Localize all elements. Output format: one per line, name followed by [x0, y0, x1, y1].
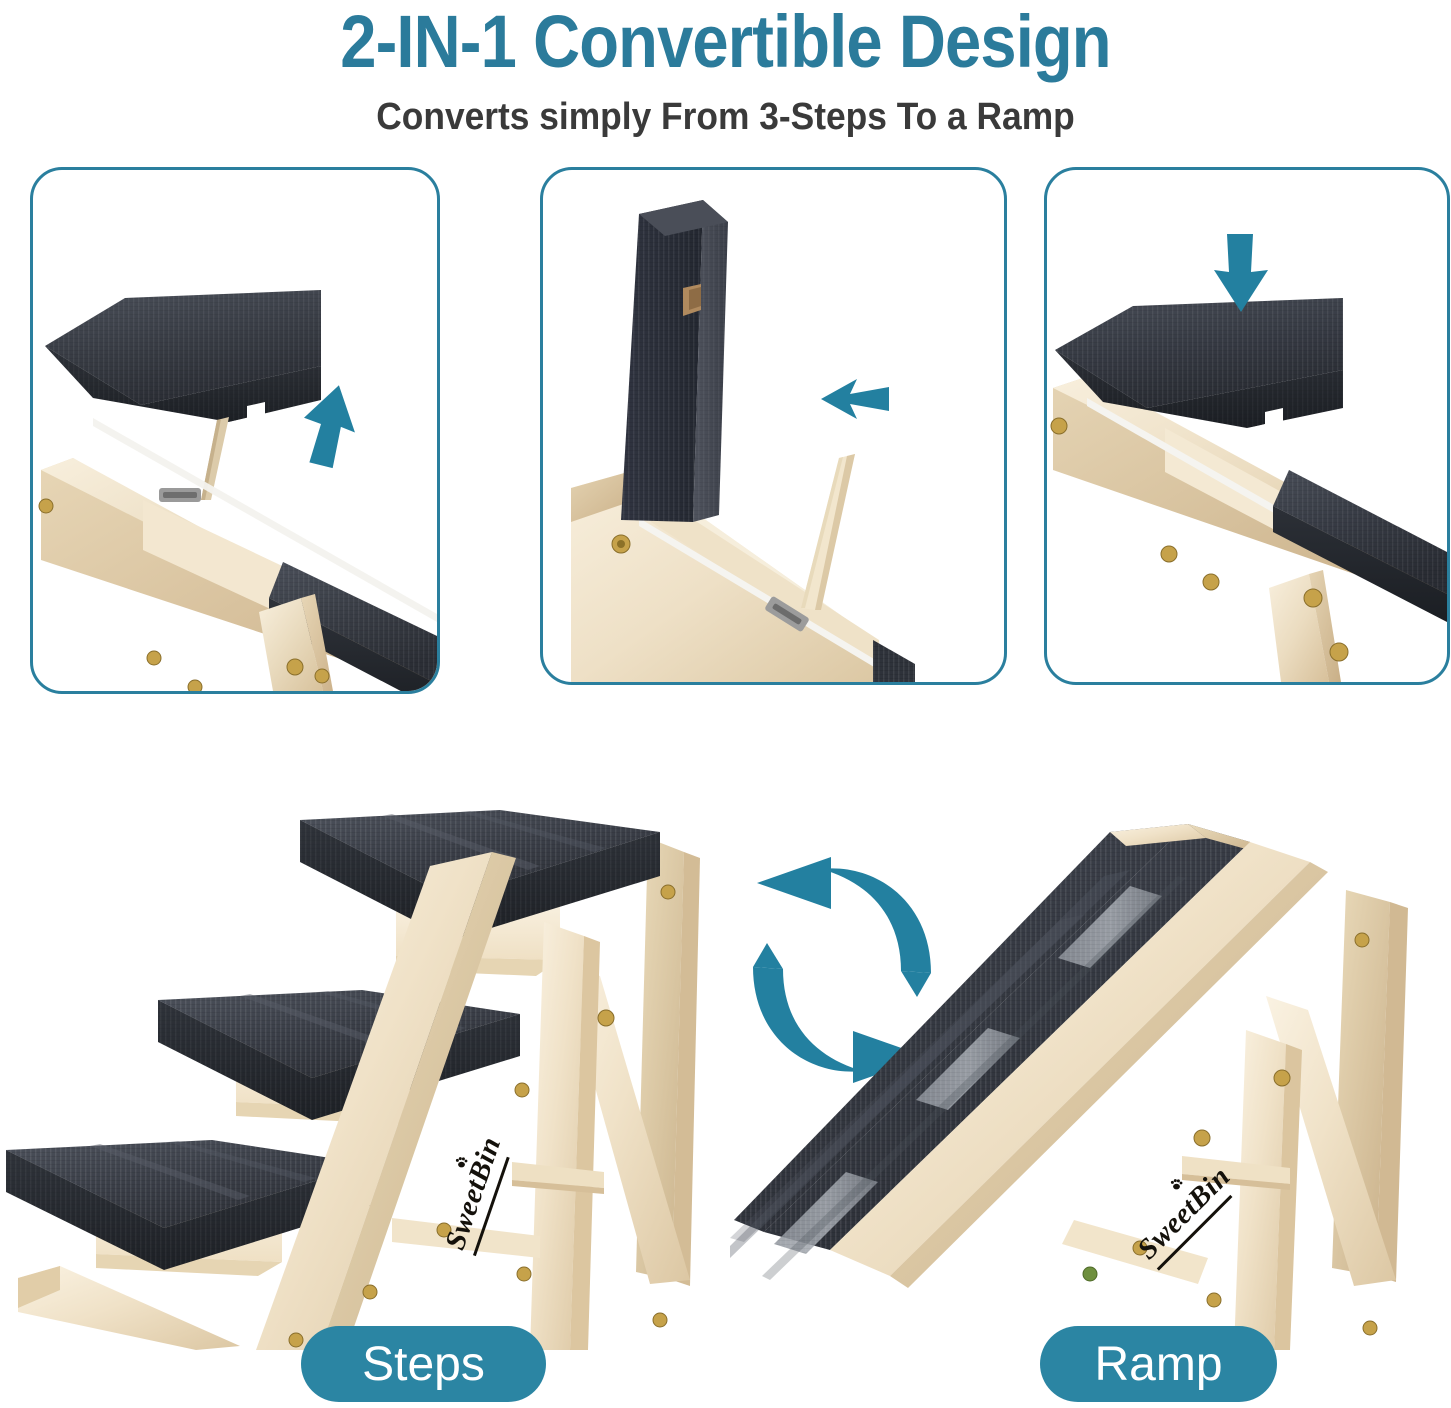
arrow-left-icon [817, 377, 893, 421]
label-pill-ramp: Ramp [1040, 1326, 1277, 1402]
infographic-root: 2-IN-1 Convertible Design Converts simpl… [0, 0, 1451, 1408]
ramp-illustration [730, 780, 1451, 1350]
pet-ramp-photo [730, 780, 1451, 1350]
label-pill-steps: Steps [301, 1326, 546, 1402]
step-upright-illustration [543, 170, 1004, 682]
label-pill-ramp-text: Ramp [1094, 1337, 1222, 1392]
steps-illustration [0, 780, 720, 1350]
panel-0-illustration [33, 170, 437, 691]
paw-print-icon-steps [455, 1156, 468, 1169]
panel-1-illustration [543, 170, 1004, 682]
panel-step-flat [1044, 167, 1450, 685]
pet-steps-photo [0, 780, 720, 1350]
paw-print-icon-ramp [1170, 1178, 1183, 1191]
panel-step-lifted [30, 167, 440, 694]
page-subtitle: Converts simply From 3-Steps To a Ramp [51, 96, 1400, 139]
label-pill-steps-text: Steps [362, 1337, 485, 1392]
arrow-up-icon [299, 380, 359, 470]
panel-step-upright [540, 167, 1007, 685]
arrow-down-icon [1210, 232, 1272, 316]
page-title: 2-IN-1 Convertible Design [87, 4, 1364, 79]
step-lifted-illustration [33, 170, 437, 691]
